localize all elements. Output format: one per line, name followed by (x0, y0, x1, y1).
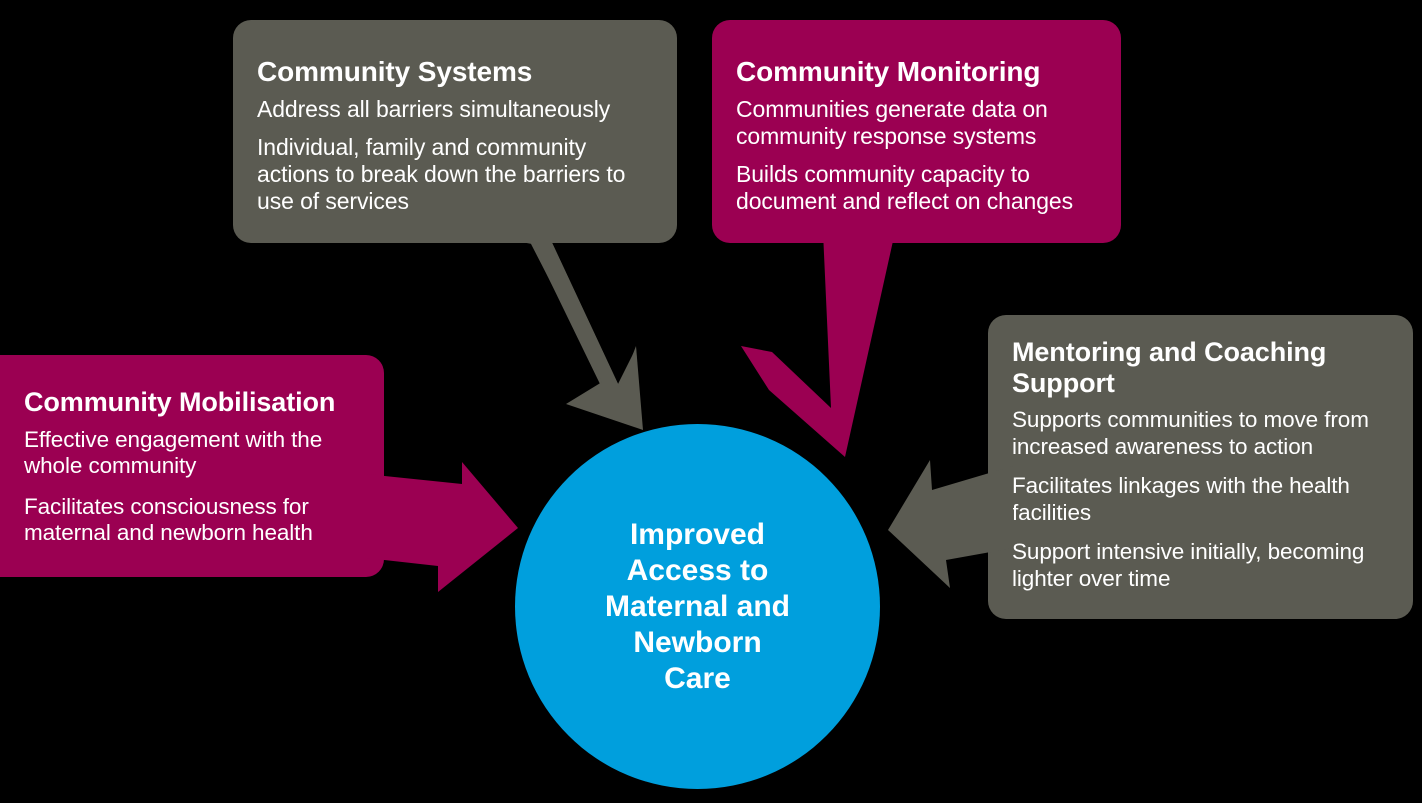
card-community-mobilisation[interactable]: Community Mobilisation Effective engagem… (0, 355, 384, 577)
arrow-community-systems-to-hub (470, 232, 685, 457)
diagram-canvas: Community Systems Address all barriers s… (0, 0, 1422, 803)
card-title: Community Monitoring (736, 56, 1097, 88)
card-line: Effective engagement with the whole comm… (24, 427, 360, 480)
card-mentoring-coaching[interactable]: Mentoring and Coaching Support Supports … (988, 315, 1413, 619)
card-line: Communities generate data on community r… (736, 96, 1097, 150)
card-line: Facilitates consciousness for maternal a… (24, 494, 360, 547)
card-line: Address all barriers simultaneously (257, 96, 653, 123)
hub-label: Improved Access to Maternal and Newborn … (559, 517, 836, 697)
card-line: Support intensive initially, becoming li… (1012, 539, 1389, 592)
card-community-monitoring[interactable]: Community Monitoring Communities generat… (712, 20, 1121, 243)
card-title: Mentoring and Coaching Support (1012, 337, 1389, 398)
card-title: Community Systems (257, 56, 653, 88)
card-line: Individual, family and community actions… (257, 134, 653, 215)
card-title: Community Mobilisation (24, 387, 360, 418)
card-line: Builds community capacity to document an… (736, 161, 1097, 215)
card-line: Supports communities to move from increa… (1012, 407, 1389, 460)
hub-circle[interactable]: Improved Access to Maternal and Newborn … (515, 424, 880, 789)
card-community-systems[interactable]: Community Systems Address all barriers s… (233, 20, 677, 243)
card-line: Facilitates linkages with the health fac… (1012, 473, 1389, 526)
arrow-community-monitoring-to-hub (735, 232, 935, 457)
